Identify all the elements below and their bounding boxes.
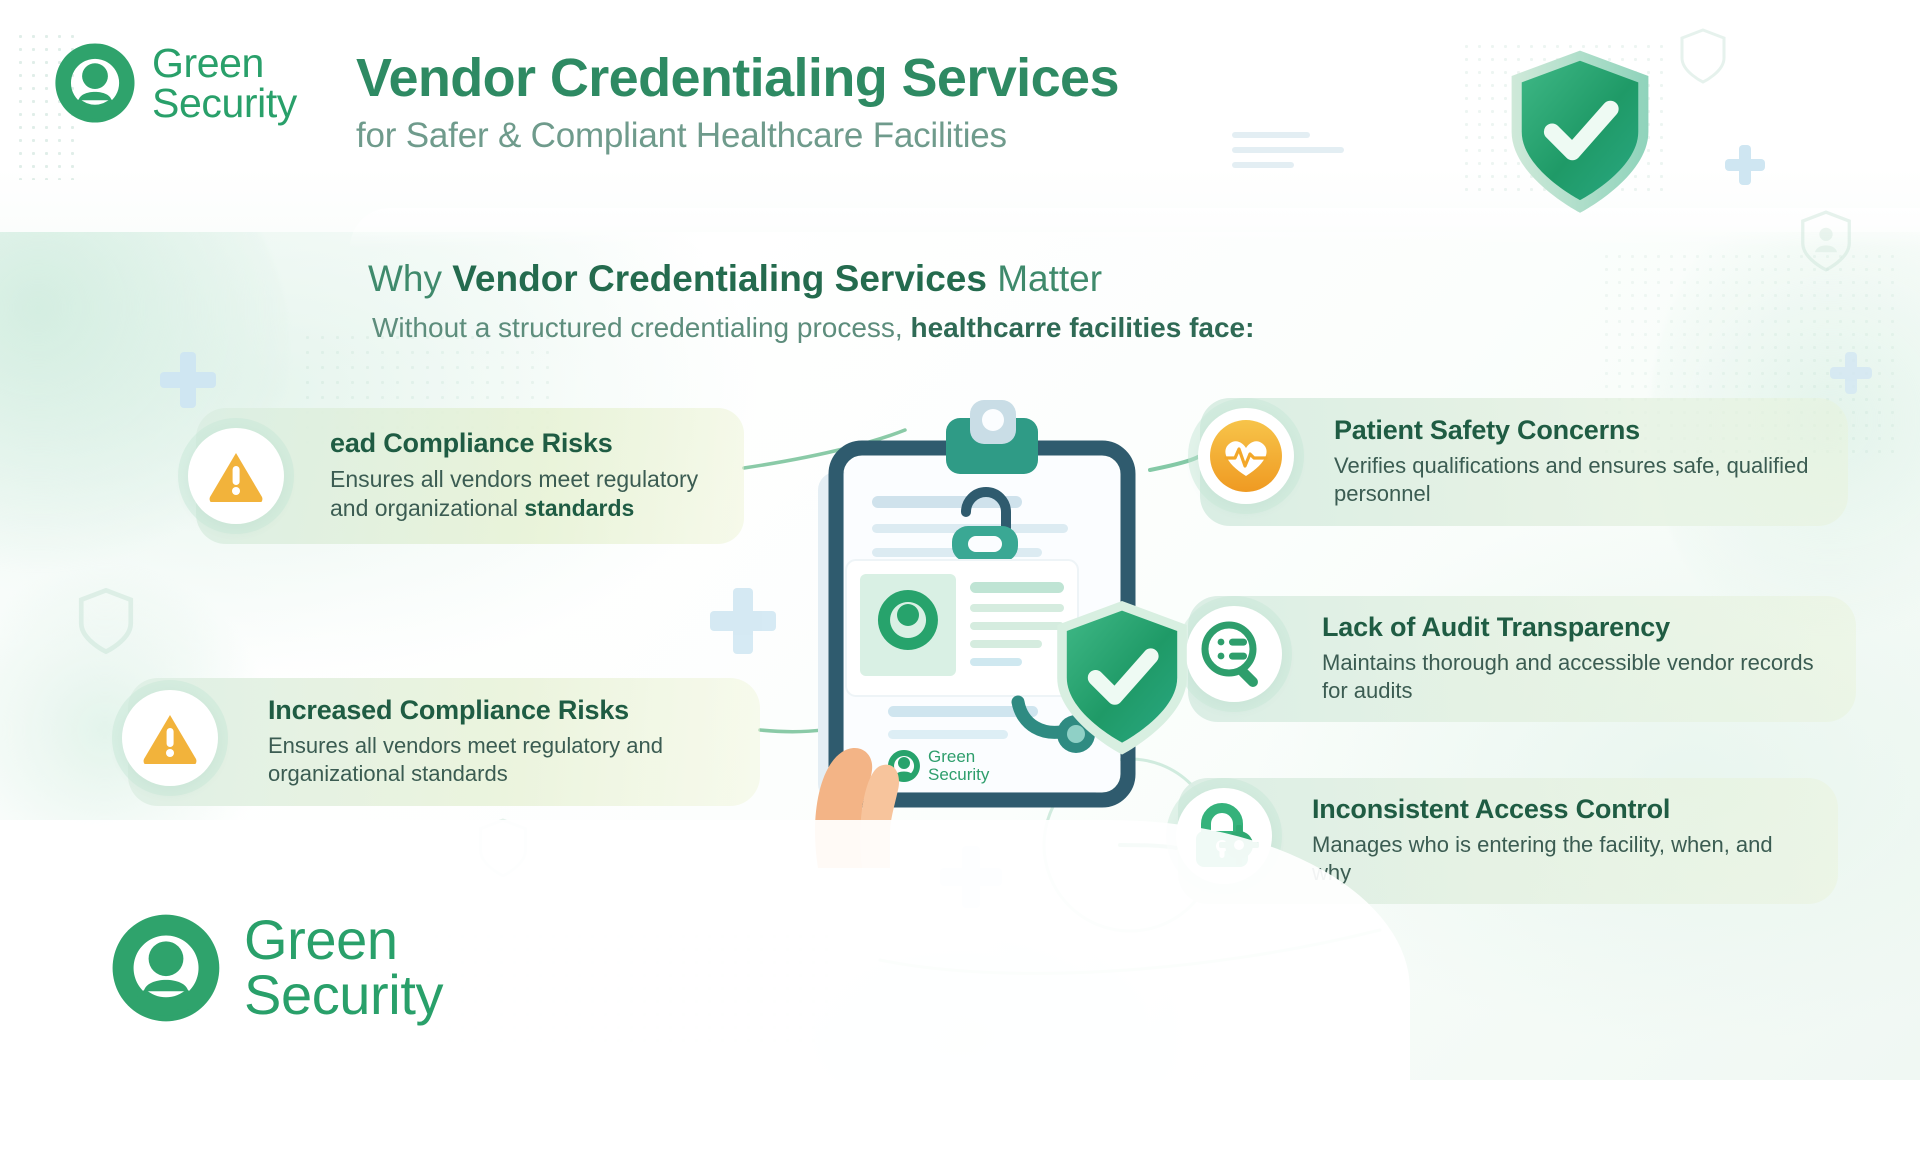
card-description-bold: standards — [524, 495, 634, 521]
medical-cross-icon — [710, 588, 776, 654]
brand-line-1: Green — [152, 40, 264, 86]
warning-triangle-icon[interactable] — [188, 428, 284, 524]
risk-card-compliance-bottom[interactable]: Increased Compliance Risks Ensures all v… — [128, 678, 760, 806]
heart-pulse-glyph — [1206, 416, 1286, 496]
card-description: Ensures all vendors meet regulatory and … — [268, 732, 730, 787]
speed-lines — [1232, 132, 1344, 177]
green-security-logo-icon — [52, 40, 138, 126]
brand-line-1: Green — [244, 908, 398, 971]
risk-card-audit-transparency[interactable]: Lack of Audit Transparency Maintains tho… — [1188, 596, 1856, 722]
card-text: ead Compliance Risks Ensures all vendors… — [308, 414, 744, 539]
medical-cross-icon — [1830, 352, 1872, 394]
warning-triangle-glyph — [208, 450, 264, 502]
card-title: ead Compliance Risks — [330, 428, 714, 459]
page-title: Vendor Credentialing Services — [356, 48, 1456, 108]
warning-triangle-glyph — [142, 712, 198, 764]
section-subheading: Without a structured credentialing proce… — [372, 312, 1254, 344]
section-heading-tail: Matter — [987, 258, 1102, 299]
card-title: Increased Compliance Risks — [268, 695, 730, 726]
card-text: Lack of Audit Transparency Maintains tho… — [1300, 598, 1856, 720]
card-title: Lack of Audit Transparency — [1322, 612, 1826, 643]
section-heading-light: Why — [368, 258, 452, 299]
card-description: Manages who is entering the facility, wh… — [1312, 831, 1782, 886]
svg-text:Security: Security — [928, 765, 990, 784]
card-text: Inconsistent Access Control Manages who … — [1290, 780, 1812, 902]
warning-triangle-icon[interactable] — [122, 690, 218, 786]
card-title: Inconsistent Access Control — [1312, 794, 1782, 825]
section-heading: Why Vendor Credentialing Services Matter — [368, 258, 1102, 300]
brand-line-2: Security — [152, 83, 297, 123]
shield-watermark-icon — [78, 588, 134, 654]
brand-line-2: Security — [244, 968, 443, 1023]
section-heading-bold: Vendor Credentialing Services — [452, 258, 987, 299]
green-security-logo-icon — [108, 910, 224, 1026]
card-description-normal: Ensures all vendors meet regulatory and … — [330, 466, 698, 521]
brand-wordmark: Green Security — [244, 913, 443, 1023]
svg-text:Green: Green — [928, 747, 975, 766]
card-text: Increased Compliance Risks Ensures all v… — [246, 681, 760, 803]
infographic-canvas: Green Security Vendor Credentialing Serv… — [0, 0, 1920, 1080]
section-sub-normal: Without a structured credentialing proce… — [372, 312, 910, 343]
brand-wordmark: Green Security — [152, 43, 297, 123]
magnifier-list-icon[interactable] — [1186, 606, 1282, 702]
card-text: Patient Safety Concerns Verifies qualifi… — [1312, 401, 1848, 523]
risk-card-patient-safety[interactable]: Patient Safety Concerns Verifies qualifi… — [1200, 398, 1848, 526]
card-description: Verifies qualifications and ensures safe… — [1334, 452, 1818, 507]
card-description: Maintains thorough and accessible vendor… — [1322, 649, 1826, 704]
brand-logo-footer[interactable]: Green Security — [108, 910, 443, 1026]
shield-check-icon — [1050, 598, 1194, 760]
magnifier-list-glyph — [1198, 618, 1270, 690]
section-sub-strong: healthcarre facilities face: — [910, 312, 1254, 343]
shield-check-icon — [1504, 48, 1656, 218]
medical-cross-icon — [160, 352, 216, 408]
heart-pulse-icon[interactable] — [1198, 408, 1294, 504]
card-title: Patient Safety Concerns — [1334, 415, 1818, 446]
brand-logo-header[interactable]: Green Security — [52, 40, 297, 126]
card-description: Ensures all vendors meet regulatory and … — [330, 465, 714, 523]
